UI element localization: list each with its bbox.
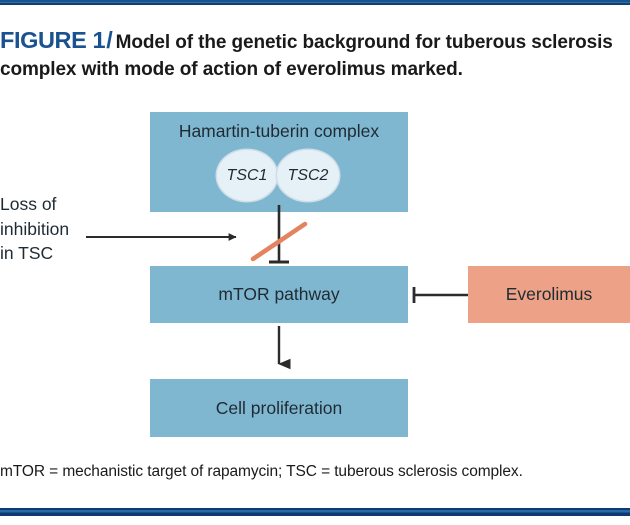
figure-footnote: mTOR = mechanistic target of rapamycin; …: [0, 463, 630, 481]
inhibition-connector-everolimus-to-mtor: [414, 287, 468, 303]
diagram-connectors: [0, 0, 630, 525]
bottom-rule-divider: [0, 508, 630, 516]
figure-page: FIGURE 1/Model of the genetic background…: [0, 0, 630, 525]
inhibition-connector-complex-to-mtor: [269, 205, 289, 262]
